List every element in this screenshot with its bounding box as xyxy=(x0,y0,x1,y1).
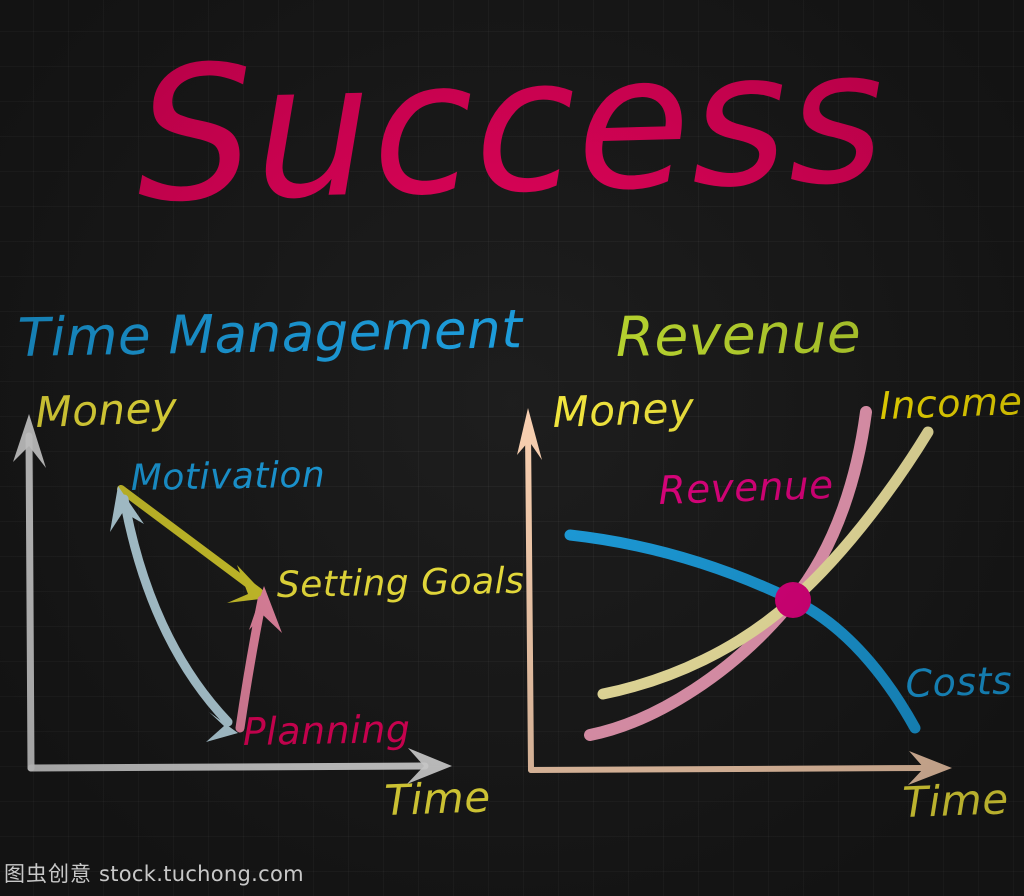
series-label-income: Income xyxy=(879,379,1023,428)
intersection-dot xyxy=(775,582,811,618)
poster-canvas: Success Time Management Money Time xyxy=(0,0,1024,896)
revenue-y-label: Money xyxy=(552,383,696,437)
revenue-chart: Revenue Money Time Income Revenue Costs xyxy=(0,0,1024,896)
watermark-url: stock.tuchong.com xyxy=(99,862,304,886)
revenue-y-axis xyxy=(517,408,542,770)
curve-costs xyxy=(570,535,915,728)
watermark-chinese: 图虫创意 xyxy=(4,862,92,886)
series-label-costs: Costs xyxy=(905,658,1013,706)
revenue-x-label: Time xyxy=(902,774,1010,827)
watermark: 图虫创意 stock.tuchong.com xyxy=(4,858,304,888)
revenue-x-axis xyxy=(531,751,952,785)
revenue-title: Revenue xyxy=(615,301,862,369)
series-label-revenue: Revenue xyxy=(658,463,835,514)
